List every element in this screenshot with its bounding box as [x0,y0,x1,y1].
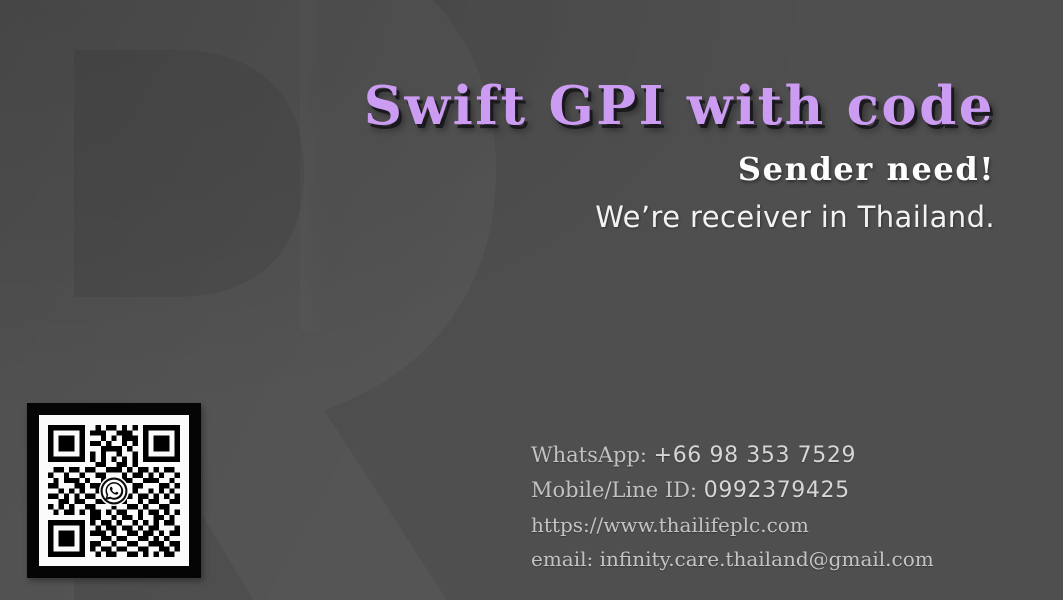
contact-line-mobile: Mobile/Line ID: 0992379425 [531,473,1031,508]
email-label: email: [531,547,593,571]
email-address[interactable]: infinity.care.thailand@gmail.com [600,547,934,571]
mobile-line-id-label: Mobile/Line ID: [531,478,697,502]
headline-block: Swift GPI with code Sender need! We’re r… [0,0,1063,232]
whatsapp-number[interactable]: +66 98 353 7529 [654,443,856,468]
contact-line-email: email: infinity.care.thailand@gmail.com [531,542,1031,576]
whatsapp-label: WhatsApp: [531,443,647,467]
business-card: Swift GPI with code Sender need! We’re r… [0,0,1063,600]
contact-block: WhatsApp: +66 98 353 7529 Mobile/Line ID… [531,438,1031,576]
whatsapp-icon [98,475,130,507]
mobile-line-id-number[interactable]: 0992379425 [704,478,850,503]
tagline: We’re receiver in Thailand. [0,185,995,232]
subtitle: Sender need! [0,133,995,185]
contact-line-website: https://www.thailifeplc.com [531,508,1031,542]
website-url[interactable]: https://www.thailifeplc.com [531,513,809,537]
qr-code-frame[interactable] [27,403,201,578]
page-title: Swift GPI with code [0,0,995,133]
contact-line-whatsapp: WhatsApp: +66 98 353 7529 [531,438,1031,473]
qr-code-plate [39,415,189,566]
